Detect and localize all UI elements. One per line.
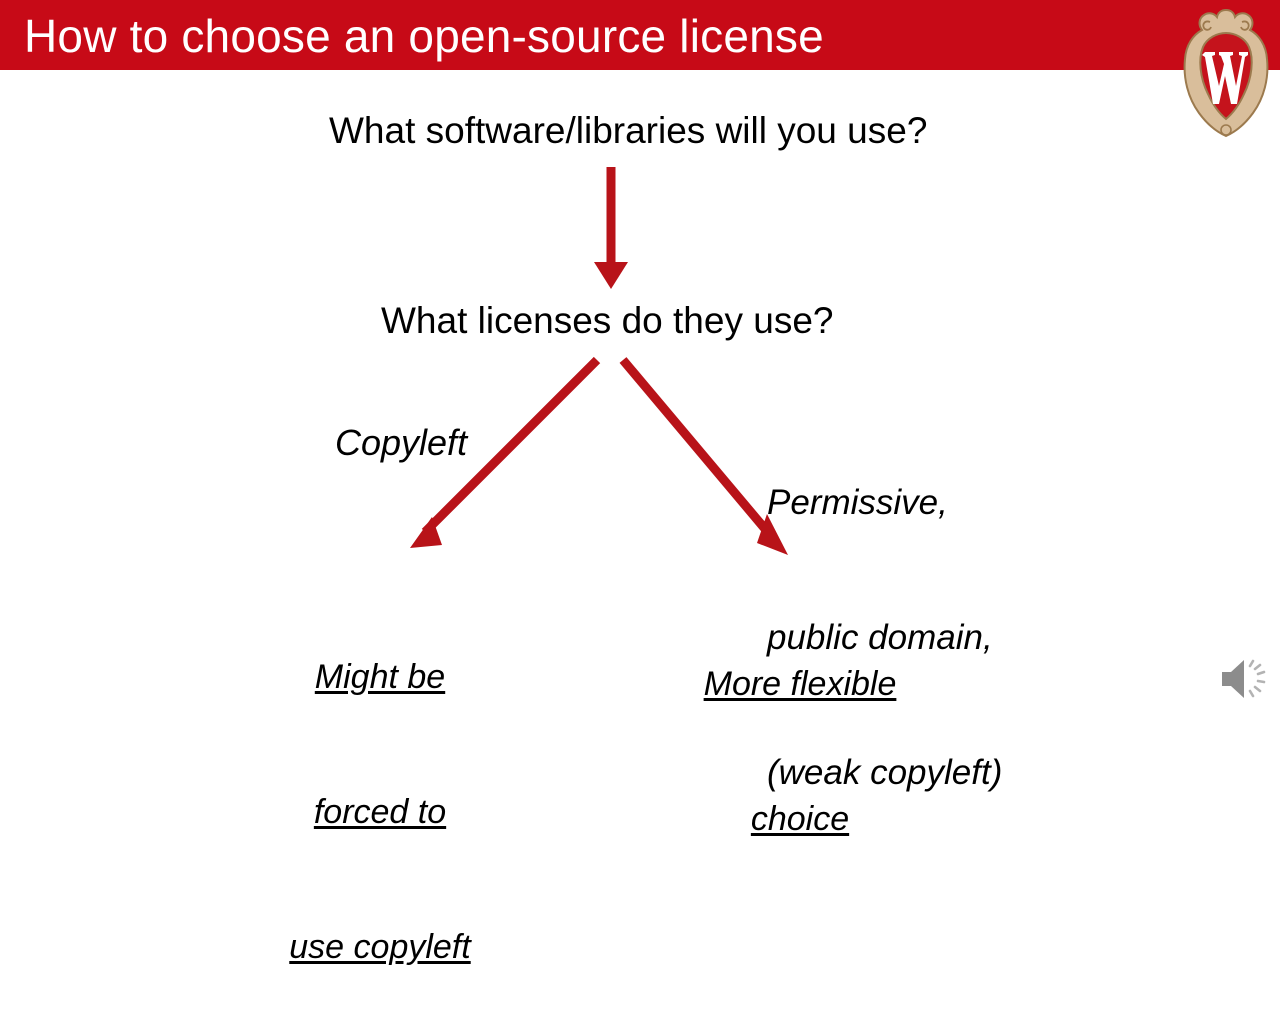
question-which-licenses: What licenses do they use?	[381, 298, 833, 344]
branch-label-copyleft: Copyleft	[335, 420, 467, 466]
arrow-down-main	[594, 167, 628, 289]
outcome-forced-copyleft-line-2: forced to	[268, 790, 492, 835]
outcome-more-flexible-line-1: More flexible	[680, 662, 920, 707]
outcome-forced-copyleft-line-3: use copyleft	[268, 925, 492, 970]
outcome-forced-copyleft: Might be forced to use copyleft	[268, 565, 492, 1015]
outcome-more-flexible-line-2: choice	[680, 797, 920, 842]
page-title: How to choose an open-source license	[24, 8, 824, 64]
question-software-libraries: What software/libraries will you use?	[329, 108, 927, 154]
branch-label-permissive-line-1: Permissive,	[767, 480, 1002, 525]
uw-crest-logo	[1177, 4, 1275, 140]
audio-speaker-icon[interactable]	[1214, 653, 1272, 705]
outcome-more-flexible: More flexible choice	[680, 572, 920, 887]
arrow-branch-right	[623, 360, 788, 555]
slide-title-bar: How to choose an open-source license	[0, 0, 1280, 70]
outcome-forced-copyleft-line-1: Might be	[268, 655, 492, 700]
